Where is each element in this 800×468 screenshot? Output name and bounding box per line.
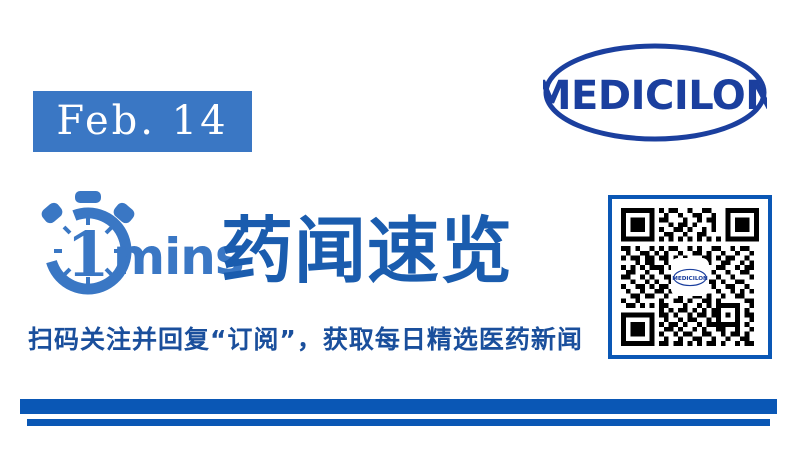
page-title: 药闻速览: [221, 214, 513, 290]
footer-rule-thick: [20, 399, 777, 414]
poster-canvas: Feb. 14 MEDICILON: [0, 0, 800, 468]
subtitle-text: 扫码关注并回复“订阅”，获取每日精选医药新闻: [28, 325, 588, 355]
footer-rule-thin: [27, 419, 770, 426]
qr-center-medicilon-logo: MEDICILON: [671, 258, 709, 296]
medicilon-logo: MEDICILON: [543, 43, 767, 142]
svg-text:1: 1: [66, 218, 109, 291]
svg-text:MEDICILON: MEDICILON: [543, 73, 767, 119]
date-badge: Feb. 14: [33, 91, 252, 152]
date-badge-label: Feb. 14: [56, 101, 228, 141]
svg-text:MEDICILON: MEDICILON: [672, 275, 708, 281]
qr-code[interactable]: MEDICILON: [608, 195, 772, 359]
